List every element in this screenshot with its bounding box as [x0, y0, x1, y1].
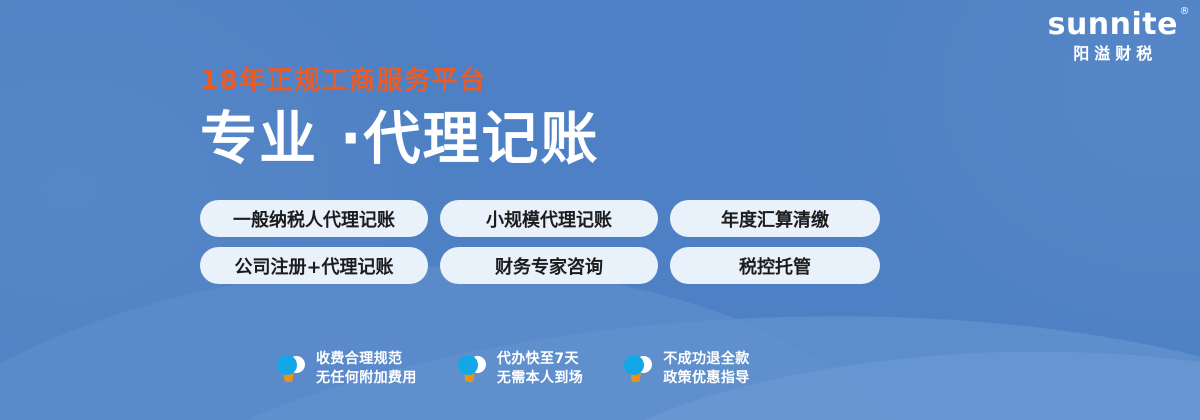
feature-text-pricing: 收费合理规范 无任何附加费用	[316, 350, 417, 388]
feature-line-2: 无任何附加费用	[316, 369, 417, 388]
service-pill-row: 公司注册+代理记账 财务专家咨询 税控托管	[200, 247, 880, 284]
brand-wordmark-text: sunnite	[1048, 7, 1178, 42]
feature-item-pricing: 收费合理规范 无任何附加费用	[276, 350, 417, 388]
service-pill-row: 一般纳税人代理记账 小规模代理记账 年度汇算清缴	[200, 200, 880, 237]
service-pill-tax-control-hosting[interactable]: 税控托管	[670, 247, 880, 284]
badge-icon-disc	[458, 355, 478, 375]
feature-line-1: 收费合理规范	[316, 350, 417, 369]
promo-banner: sunnite ® 阳溢财税 18年正规工商服务平台 专业 ·代理记账 一般纳税…	[0, 0, 1200, 420]
service-pill-company-registration-bookkeeping[interactable]: 公司注册+代理记账	[200, 247, 428, 284]
hero-eyebrow: 18年正规工商服务平台	[200, 68, 600, 94]
badge-icon	[276, 353, 306, 385]
badge-icon	[457, 353, 487, 385]
hero-title: 专业 ·代理记账	[200, 111, 600, 168]
badge-icon	[623, 353, 653, 385]
feature-item-speed: 代办快至7天 无需本人到场	[457, 350, 583, 388]
feature-item-guarantee: 不成功退全款 政策优惠指导	[623, 350, 749, 388]
feature-list: 收费合理规范 无任何附加费用 代办快至7天 无需本人到场 不成功退全款	[276, 350, 750, 388]
service-pill-general-taxpayer-bookkeeping[interactable]: 一般纳税人代理记账	[200, 200, 428, 237]
brand-chinese-name: 阳溢财税	[1048, 47, 1178, 63]
brand-wordmark: sunnite ®	[1048, 10, 1178, 40]
badge-icon-disc	[277, 355, 297, 375]
registered-trademark-icon: ®	[1180, 7, 1191, 17]
service-pill-finance-expert-consulting[interactable]: 财务专家咨询	[440, 247, 658, 284]
feature-text-speed: 代办快至7天 无需本人到场	[497, 350, 583, 388]
feature-line-2: 无需本人到场	[497, 369, 583, 388]
hero-headline: 18年正规工商服务平台 专业 ·代理记账	[200, 68, 600, 168]
brand-logo[interactable]: sunnite ® 阳溢财税	[1048, 10, 1178, 63]
feature-line-1: 代办快至7天	[497, 350, 583, 369]
service-pill-grid: 一般纳税人代理记账 小规模代理记账 年度汇算清缴 公司注册+代理记账 财务专家咨…	[200, 200, 880, 294]
feature-line-2: 政策优惠指导	[663, 369, 749, 388]
service-pill-annual-tax-settlement[interactable]: 年度汇算清缴	[670, 200, 880, 237]
feature-text-guarantee: 不成功退全款 政策优惠指导	[663, 350, 749, 388]
service-pill-small-scale-bookkeeping[interactable]: 小规模代理记账	[440, 200, 658, 237]
feature-line-1: 不成功退全款	[663, 350, 749, 369]
